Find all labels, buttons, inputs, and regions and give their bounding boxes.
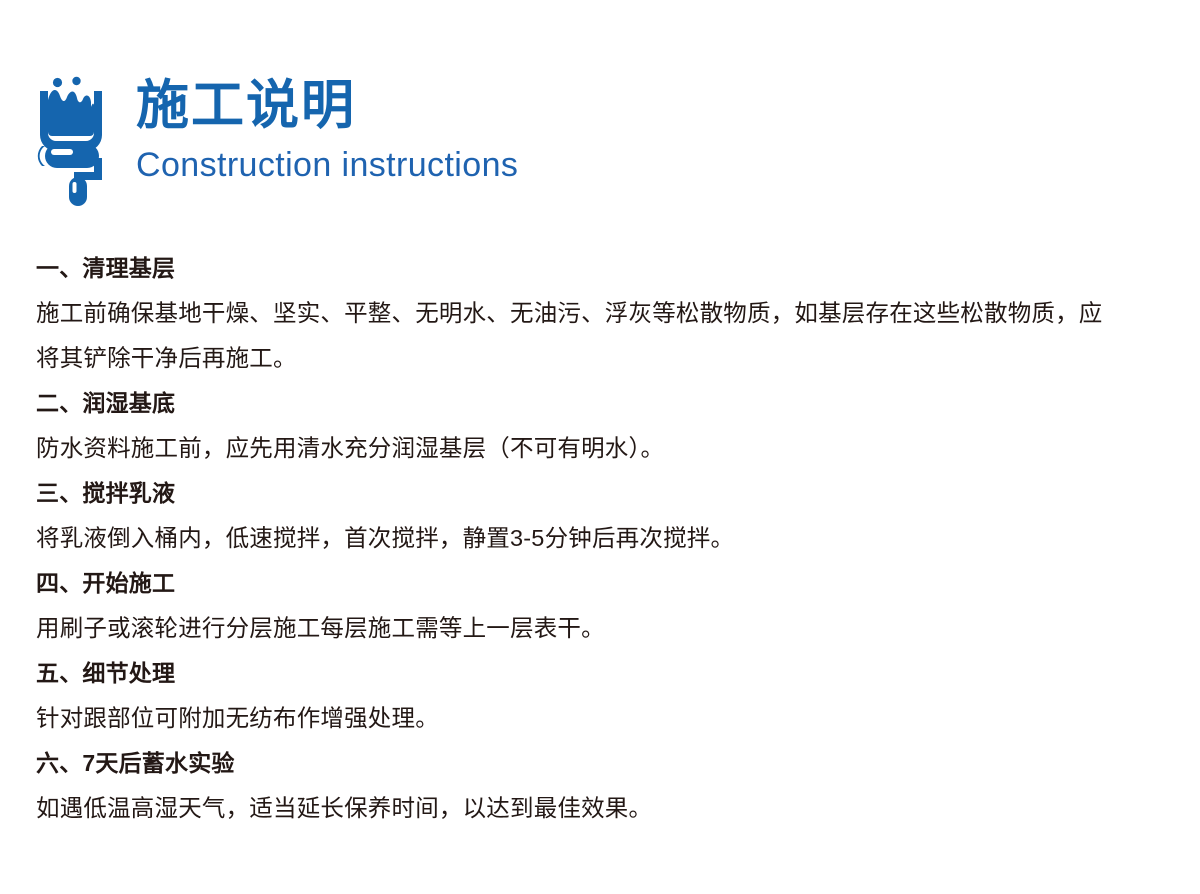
section-heading: 四、开始施工 [36,561,1108,606]
section-heading: 二、润湿基底 [36,381,1108,426]
instructions-content: 一、清理基层 施工前确保基地干燥、坚实、平整、无明水、无油污、浮灰等松散物质，如… [36,246,1108,831]
section-body: 将乳液倒入桶内，低速搅拌，首次搅拌，静置3-5分钟后再次搅拌。 [36,516,1108,561]
section-6: 六、7天后蓄水实验 如遇低温高湿天气，适当延长保养时间，以达到最佳效果。 [36,741,1108,831]
page-title-cn: 施工说明 [136,76,518,136]
section-body: 用刷子或滚轮进行分层施工每层施工需等上一层表干。 [36,606,1108,651]
page-title-en: Construction instructions [136,142,518,188]
section-heading: 六、7天后蓄水实验 [36,741,1108,786]
section-body: 如遇低温高湿天气，适当延长保养时间，以达到最佳效果。 [36,786,1108,831]
section-5: 五、细节处理 针对跟部位可附加无纺布作增强处理。 [36,651,1108,741]
section-body: 针对跟部位可附加无纺布作增强处理。 [36,696,1108,741]
construction-instructions-page: 施工说明 Construction instructions 一、清理基层 施工… [0,0,1200,894]
paint-roller-icon [36,74,122,206]
section-1: 一、清理基层 施工前确保基地干燥、坚实、平整、无明水、无油污、浮灰等松散物质，如… [36,246,1108,381]
section-heading: 五、细节处理 [36,651,1108,696]
section-heading: 一、清理基层 [36,246,1108,291]
section-2: 二、润湿基底 防水资料施工前，应先用清水充分润湿基层（不可有明水）。 [36,381,1108,471]
section-body: 施工前确保基地干燥、坚实、平整、无明水、无油污、浮灰等松散物质，如基层存在这些松… [36,291,1108,381]
section-4: 四、开始施工 用刷子或滚轮进行分层施工每层施工需等上一层表干。 [36,561,1108,651]
page-header: 施工说明 Construction instructions [36,74,518,206]
section-body: 防水资料施工前，应先用清水充分润湿基层（不可有明水）。 [36,426,1108,471]
header-text-block: 施工说明 Construction instructions [136,74,518,188]
section-heading: 三、搅拌乳液 [36,471,1108,516]
section-3: 三、搅拌乳液 将乳液倒入桶内，低速搅拌，首次搅拌，静置3-5分钟后再次搅拌。 [36,471,1108,561]
